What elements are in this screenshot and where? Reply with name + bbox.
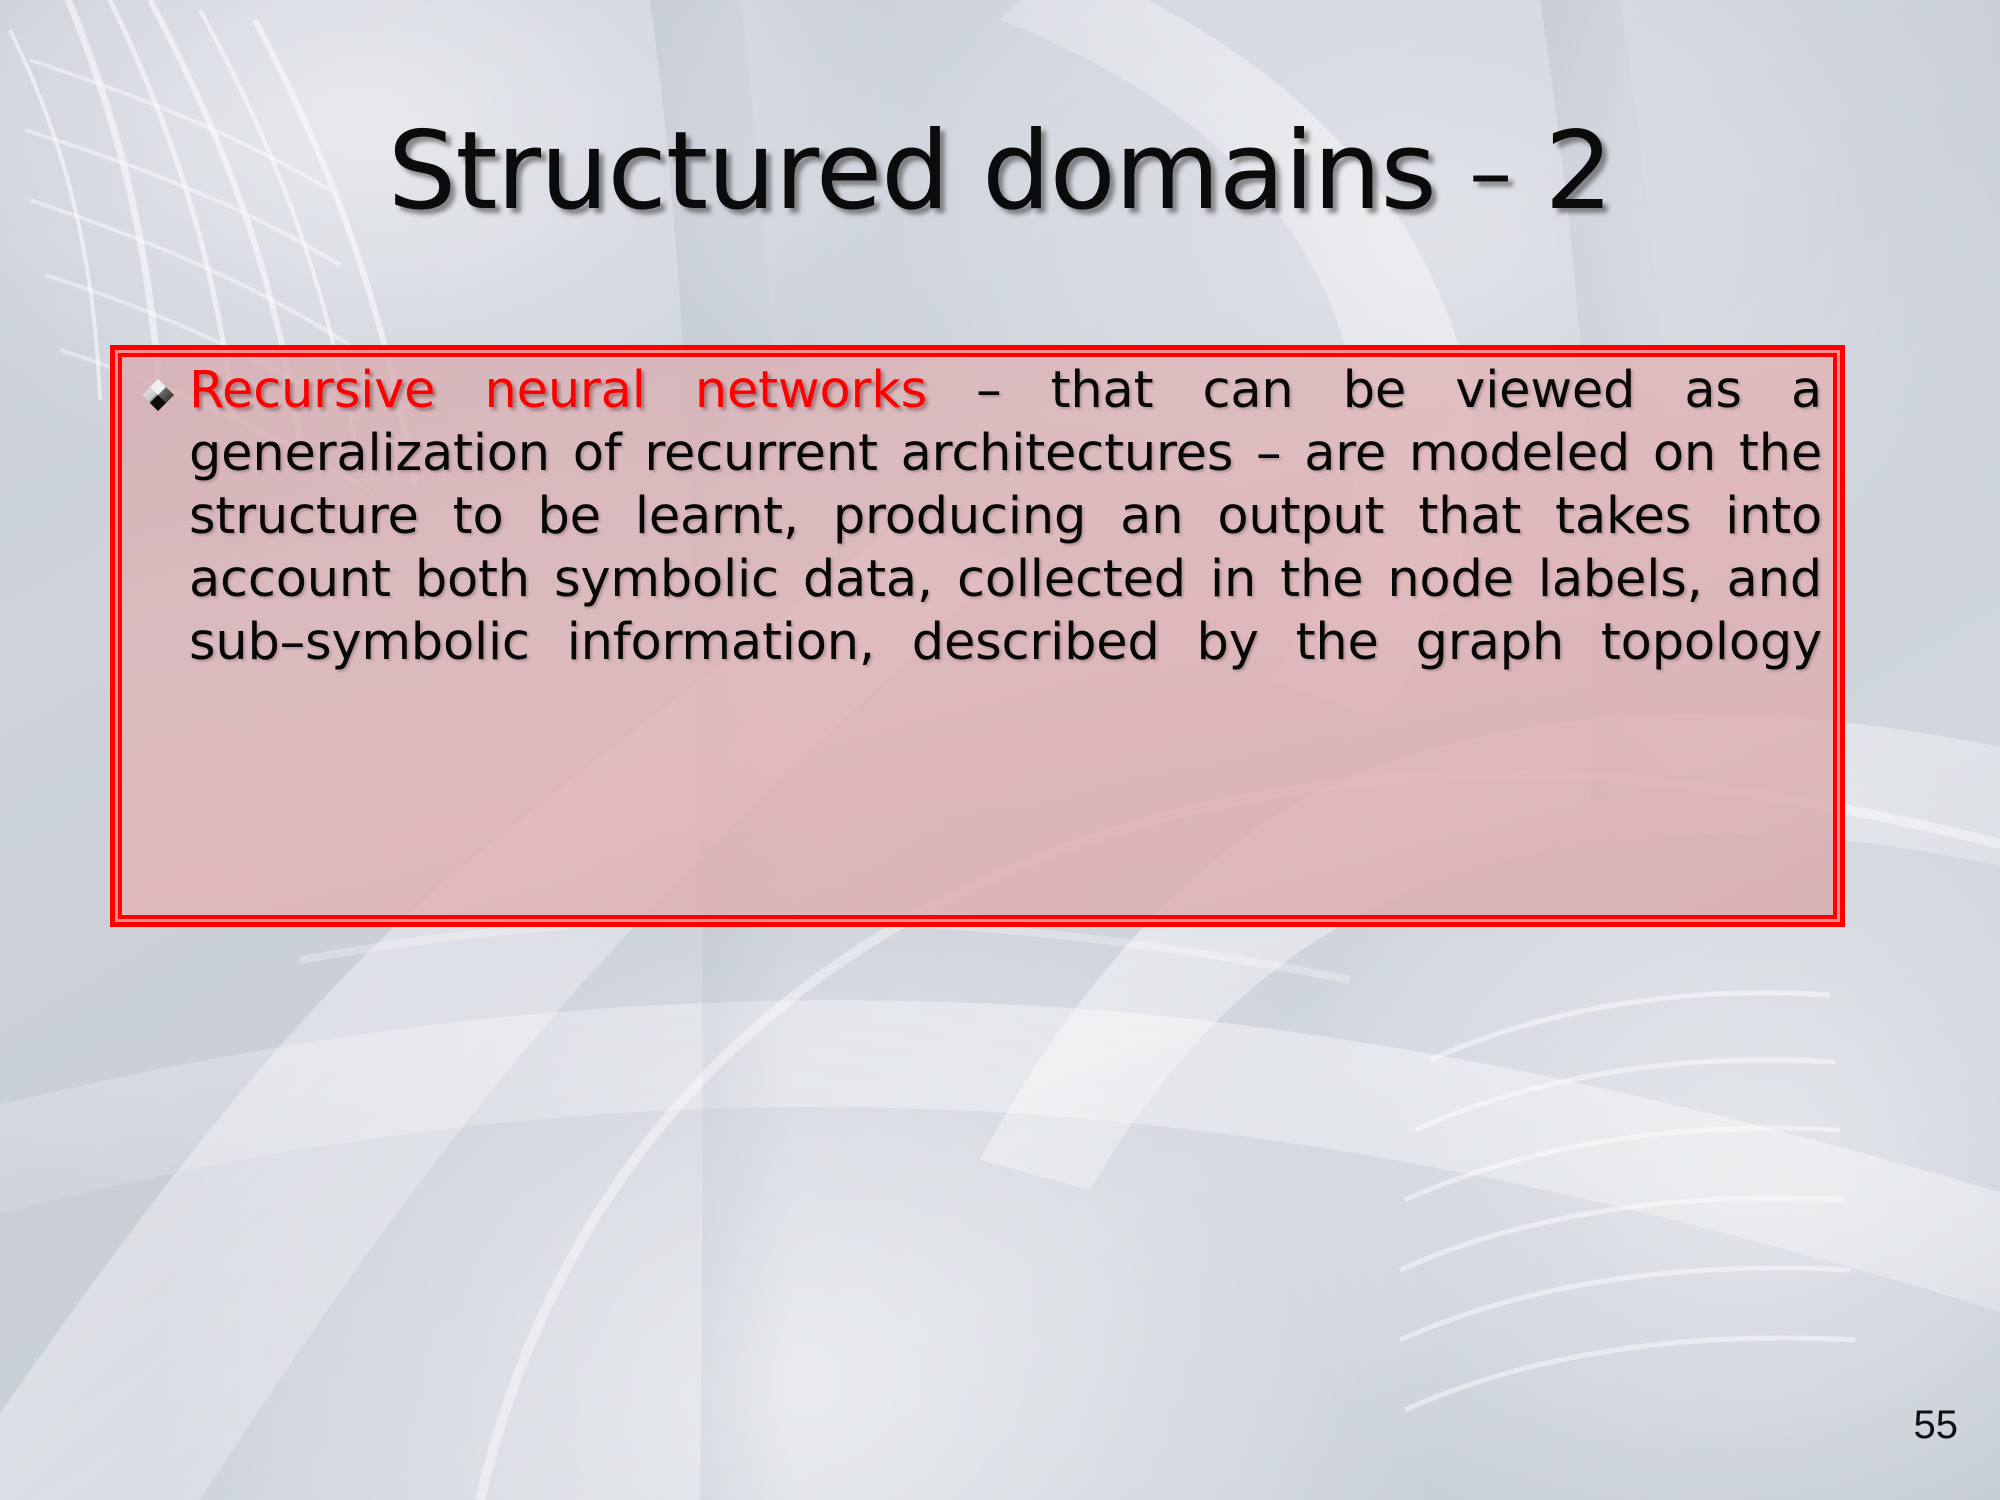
slide-title: Structured domains – 2: [0, 118, 2000, 226]
body-paragraph: Recursive neural networks – that can be …: [189, 360, 1822, 738]
slide-title-text: Structured domains: [388, 109, 1436, 234]
diamond-bullet-icon: [141, 378, 175, 412]
bullet-list-item: Recursive neural networks – that can be …: [129, 360, 1822, 738]
content-box: Recursive neural networks – that can be …: [110, 345, 1845, 927]
slide-title-dash: –: [1469, 123, 1511, 223]
slide-title-number: 2: [1545, 109, 1613, 234]
highlight-phrase: Recursive neural networks: [189, 361, 927, 420]
slide: Structured domains – 2: [0, 0, 2000, 1500]
content-box-inner: Recursive neural networks – that can be …: [129, 360, 1822, 912]
page-number: 55: [1914, 1403, 1959, 1448]
